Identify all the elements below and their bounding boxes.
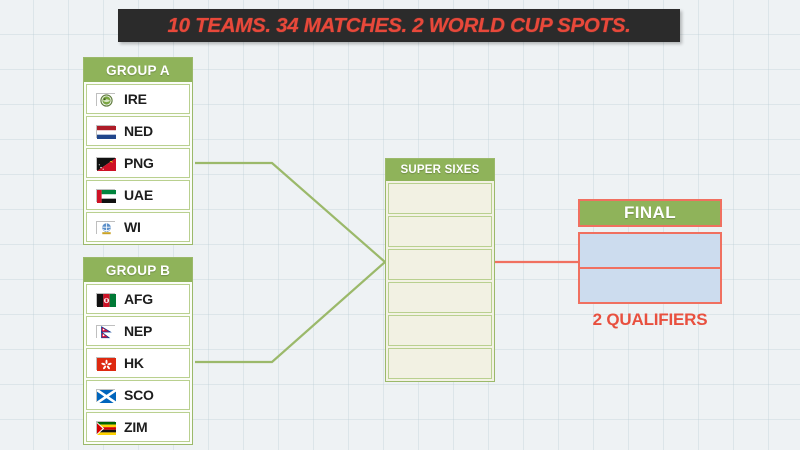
bracket-canvas: 10 TEAMS. 34 MATCHES. 2 WORLD CUP SPOTS.… bbox=[0, 0, 800, 450]
final-slot[interactable] bbox=[580, 269, 720, 302]
team-row-ire[interactable]: IRE bbox=[86, 84, 190, 114]
super-sixes-row[interactable] bbox=[388, 249, 492, 280]
team-row-afg[interactable]: AFG bbox=[86, 284, 190, 314]
team-row-hk[interactable]: HK bbox=[86, 348, 190, 378]
team-name-ire: IRE bbox=[124, 91, 147, 107]
team-name-png: PNG bbox=[124, 155, 154, 171]
title-banner: 10 TEAMS. 34 MATCHES. 2 WORLD CUP SPOTS. bbox=[118, 9, 680, 42]
connector-group-a bbox=[195, 163, 385, 262]
group-b-box: GROUP B AFG bbox=[83, 257, 193, 445]
super-sixes-row[interactable] bbox=[388, 216, 492, 247]
west-indies-cricket-logo-icon bbox=[96, 221, 115, 234]
team-name-zim: ZIM bbox=[124, 419, 148, 435]
ireland-cricket-logo-icon bbox=[96, 93, 115, 106]
team-row-sco[interactable]: SCO bbox=[86, 380, 190, 410]
final-slots bbox=[578, 232, 722, 304]
group-a-title: GROUP A bbox=[106, 63, 170, 78]
group-a-team-list: IRE NED bbox=[84, 82, 192, 244]
super-sixes-rows bbox=[386, 181, 494, 381]
united-arab-emirates-flag-icon bbox=[96, 189, 115, 202]
super-sixes-title: SUPER SIXES bbox=[401, 164, 480, 176]
group-a-box: GROUP A IRE bbox=[83, 57, 193, 245]
scotland-flag-icon bbox=[96, 389, 115, 402]
netherlands-flag-icon bbox=[96, 125, 115, 138]
team-name-uae: UAE bbox=[124, 187, 153, 203]
final-slot[interactable] bbox=[580, 234, 720, 269]
qualifiers-caption: 2 QUALIFIERS bbox=[578, 310, 722, 330]
super-sixes-box: SUPER SIXES bbox=[385, 158, 495, 382]
super-sixes-row[interactable] bbox=[388, 315, 492, 346]
super-sixes-header: SUPER SIXES bbox=[386, 159, 494, 181]
nepal-flag-icon bbox=[96, 325, 115, 338]
afghanistan-flag-icon bbox=[96, 293, 115, 306]
team-name-nep: NEP bbox=[124, 323, 152, 339]
team-row-png[interactable]: PNG bbox=[86, 148, 190, 178]
team-row-uae[interactable]: UAE bbox=[86, 180, 190, 210]
team-name-wi: WI bbox=[124, 219, 141, 235]
team-name-ned: NED bbox=[124, 123, 153, 139]
group-b-team-list: AFG NEP bbox=[84, 282, 192, 444]
title-banner-text: 10 TEAMS. 34 MATCHES. 2 WORLD CUP SPOTS. bbox=[168, 14, 631, 38]
super-sixes-row[interactable] bbox=[388, 348, 492, 379]
final-header: FINAL bbox=[578, 199, 722, 227]
team-row-ned[interactable]: NED bbox=[86, 116, 190, 146]
hong-kong-flag-icon bbox=[96, 357, 115, 370]
team-name-hk: HK bbox=[124, 355, 144, 371]
group-a-header: GROUP A bbox=[84, 58, 192, 82]
team-name-sco: SCO bbox=[124, 387, 154, 403]
team-name-afg: AFG bbox=[124, 291, 153, 307]
group-b-title: GROUP B bbox=[106, 263, 170, 278]
papua-new-guinea-flag-icon bbox=[96, 157, 115, 170]
team-row-wi[interactable]: WI bbox=[86, 212, 190, 242]
super-sixes-row[interactable] bbox=[388, 183, 492, 214]
super-sixes-row[interactable] bbox=[388, 282, 492, 313]
group-b-header: GROUP B bbox=[84, 258, 192, 282]
zimbabwe-flag-icon bbox=[96, 421, 115, 434]
connector-group-b bbox=[195, 262, 385, 362]
team-row-nep[interactable]: NEP bbox=[86, 316, 190, 346]
team-row-zim[interactable]: ZIM bbox=[86, 412, 190, 442]
final-title: FINAL bbox=[580, 201, 720, 225]
